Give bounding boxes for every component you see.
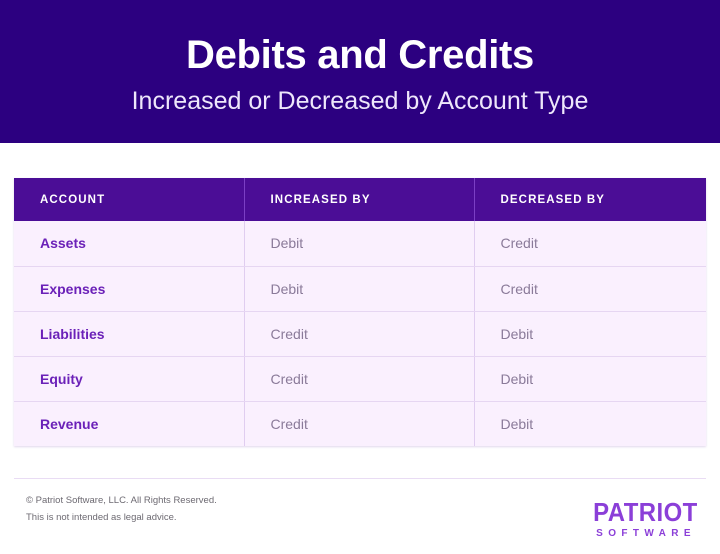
- infographic-root: Debits and Credits Increased or Decrease…: [0, 0, 720, 554]
- logo-wordmark: PATRIOT: [593, 499, 698, 525]
- cell-decreased-by: Debit: [474, 401, 706, 446]
- column-header-account: ACCOUNT: [14, 178, 244, 221]
- cell-account: Expenses: [14, 266, 244, 311]
- table-body: Assets Debit Credit Expenses Debit Credi…: [14, 221, 706, 446]
- cell-decreased-by: Debit: [474, 311, 706, 356]
- table-header-row: ACCOUNT INCREASED BY DECREASED BY: [14, 178, 706, 221]
- cell-increased-by: Credit: [244, 356, 474, 401]
- cell-increased-by: Credit: [244, 401, 474, 446]
- table-container: ACCOUNT INCREASED BY DECREASED BY Assets…: [14, 178, 706, 446]
- table-row: Liabilities Credit Debit: [14, 311, 706, 356]
- column-header-increased-by: INCREASED BY: [244, 178, 474, 221]
- logo-tagline: SOFTWARE: [584, 529, 698, 539]
- table-header: ACCOUNT INCREASED BY DECREASED BY: [14, 178, 706, 221]
- page-subtitle: Increased or Decreased by Account Type: [132, 86, 589, 116]
- page-title: Debits and Credits: [186, 33, 534, 77]
- cell-account: Assets: [14, 221, 244, 266]
- table-row: Expenses Debit Credit: [14, 266, 706, 311]
- disclaimer-text: This is not intended as legal advice.: [26, 510, 217, 527]
- table-row: Equity Credit Debit: [14, 356, 706, 401]
- cell-increased-by: Credit: [244, 311, 474, 356]
- table-row: Assets Debit Credit: [14, 221, 706, 266]
- cell-decreased-by: Credit: [474, 221, 706, 266]
- cell-increased-by: Debit: [244, 221, 474, 266]
- cell-increased-by: Debit: [244, 266, 474, 311]
- copyright-text: © Patriot Software, LLC. All Rights Rese…: [26, 493, 217, 510]
- debits-credits-table: ACCOUNT INCREASED BY DECREASED BY Assets…: [14, 178, 706, 446]
- footer: © Patriot Software, LLC. All Rights Rese…: [0, 484, 720, 554]
- cell-decreased-by: Credit: [474, 266, 706, 311]
- cell-decreased-by: Debit: [474, 356, 706, 401]
- patriot-software-logo: PATRIOT SOFTWARE: [584, 493, 706, 539]
- column-header-decreased-by: DECREASED BY: [474, 178, 706, 221]
- footer-divider: [14, 478, 706, 479]
- legal-text: © Patriot Software, LLC. All Rights Rese…: [26, 493, 217, 526]
- cell-account: Liabilities: [14, 311, 244, 356]
- table-row: Revenue Credit Debit: [14, 401, 706, 446]
- cell-account: Revenue: [14, 401, 244, 446]
- cell-account: Equity: [14, 356, 244, 401]
- banner: Debits and Credits Increased or Decrease…: [0, 0, 720, 143]
